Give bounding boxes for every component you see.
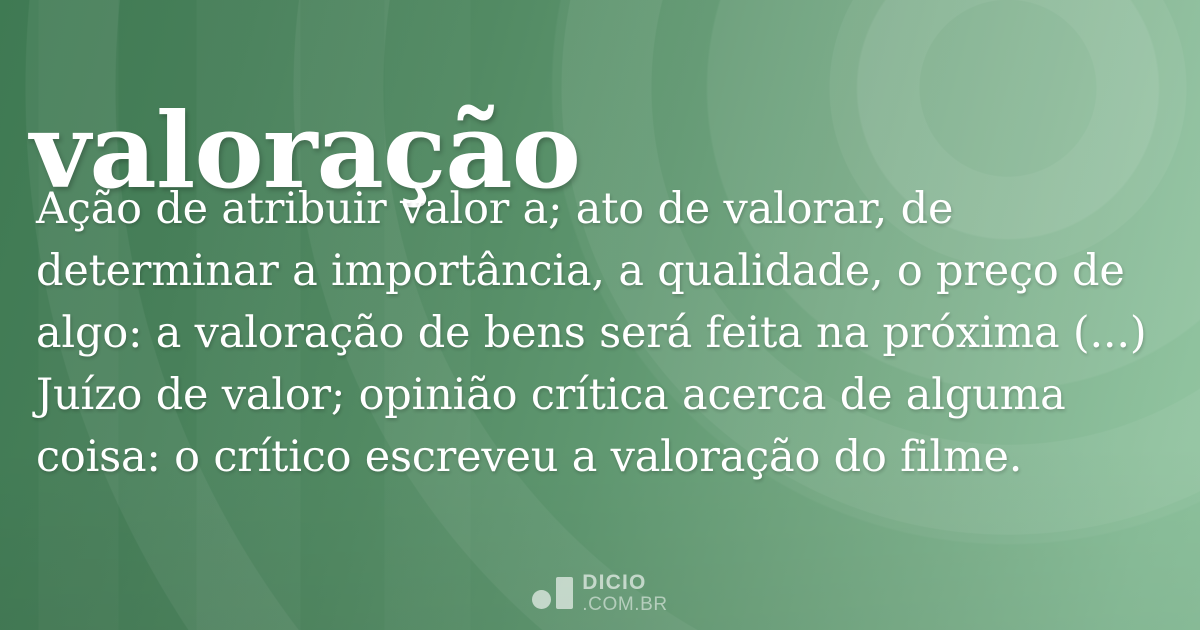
logo-text: DICIO .COM.BR <box>582 572 667 614</box>
logo-domain-suffix: .COM.BR <box>582 595 667 614</box>
definition-list: Ação de atribuir valor a; ato de valorar… <box>36 178 1164 488</box>
logo-brand-name: DICIO <box>582 572 667 593</box>
dictionary-share-card: valoração Ação de atribuir valor a; ato … <box>0 0 1200 630</box>
dicio-logo: DICIO .COM.BR <box>0 572 1200 614</box>
definition-item: Juízo de valor; opinião crítica acerca d… <box>36 364 1164 488</box>
bar-mark-icon <box>556 577 573 609</box>
logo-mark <box>532 577 573 609</box>
definition-item: Ação de atribuir valor a; ato de valorar… <box>36 178 1164 364</box>
card-content: valoração Ação de atribuir valor a; ato … <box>0 0 1200 630</box>
circle-mark-icon <box>532 590 551 609</box>
